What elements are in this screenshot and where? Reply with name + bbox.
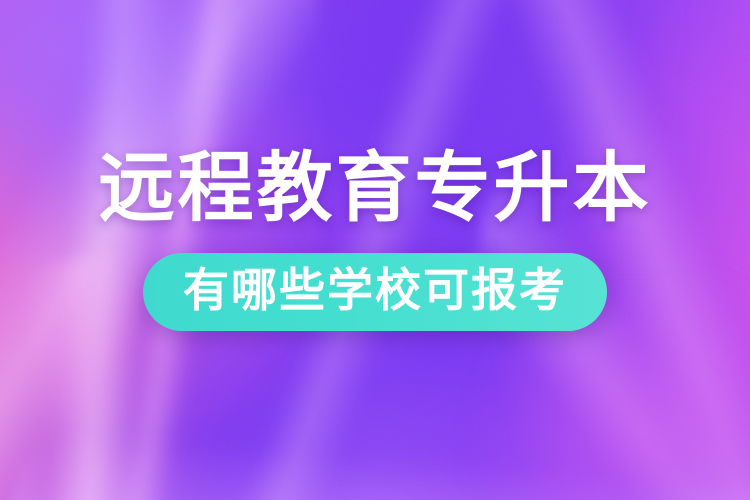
banner-headline: 远程教育专升本 bbox=[99, 151, 652, 227]
promo-banner: 远程教育专升本 有哪些学校可报考 bbox=[0, 0, 750, 500]
banner-content: 远程教育专升本 有哪些学校可报考 bbox=[0, 0, 750, 500]
banner-subline-pill: 有哪些学校可报考 bbox=[143, 253, 607, 331]
banner-subline: 有哪些学校可报考 bbox=[183, 267, 567, 313]
